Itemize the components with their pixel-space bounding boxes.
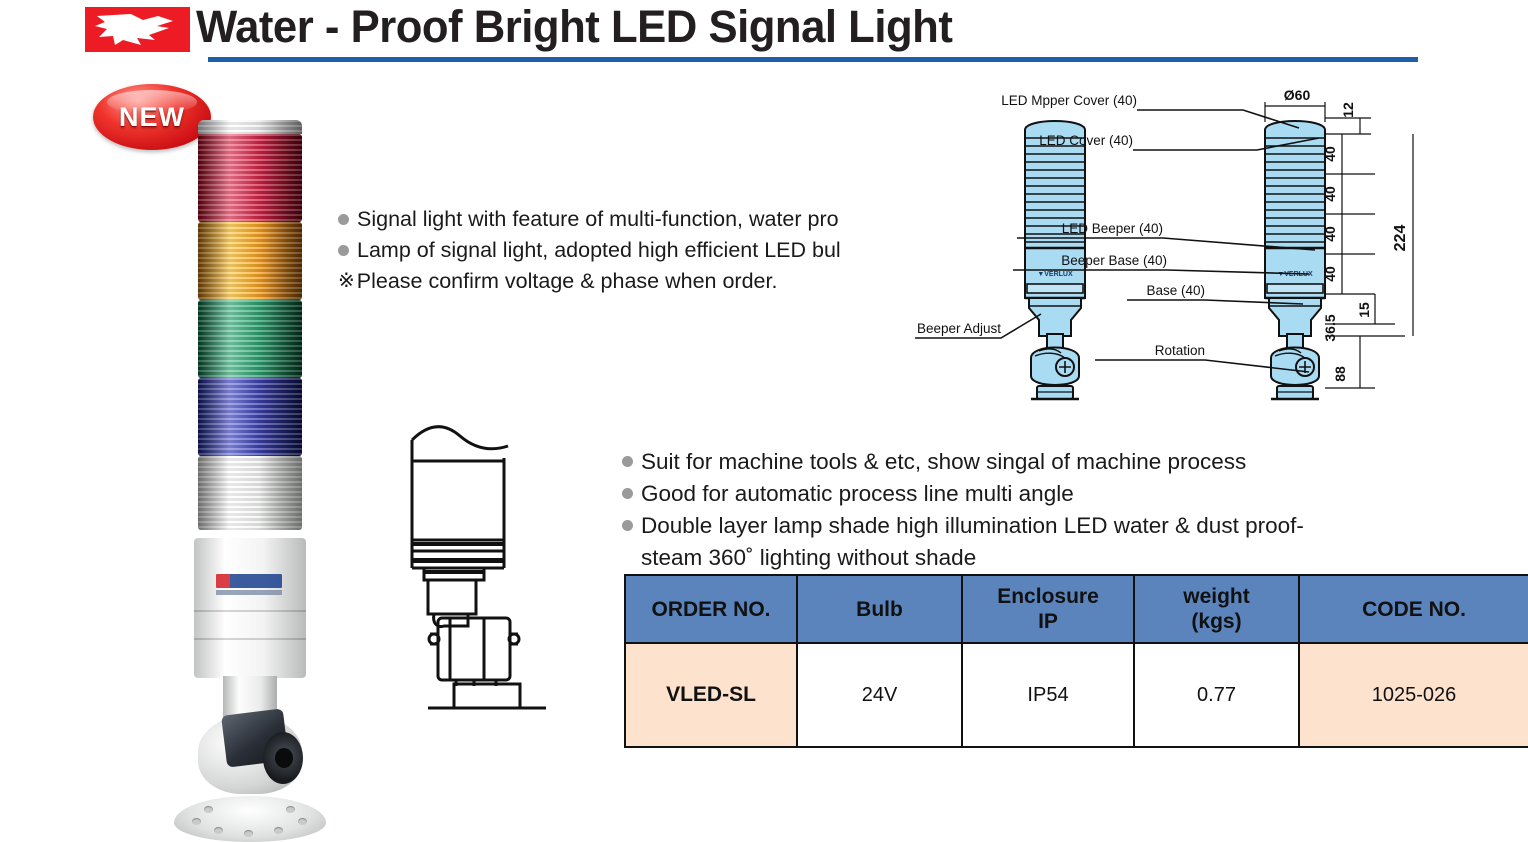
new-badge-label: NEW (119, 102, 185, 133)
feature-item-continuation: steam 360˚ lighting without shade (622, 542, 1522, 574)
stack-segment-green (198, 300, 302, 378)
cell-enclosure-ip: IP54 (962, 643, 1134, 747)
feature-item: Signal light with feature of multi-funct… (338, 204, 998, 235)
dim-beeper-base: 15 (1356, 302, 1372, 318)
feature-text: Please confirm voltage & phase when orde… (357, 266, 778, 297)
dim-diameter: Ø60 (1284, 88, 1311, 103)
dim-bracket: 88 (1332, 366, 1348, 382)
table-row: VLED-SL 24V IP54 0.77 1025-026 (625, 643, 1528, 747)
eagle-head-logo-icon (85, 7, 190, 52)
feature-text: Double layer lamp shade high illuminatio… (641, 510, 1304, 542)
feature-item: Suit for machine tools & etc, show singa… (622, 446, 1522, 478)
dim-base: 36.5 (1322, 314, 1338, 341)
swivel-knob (263, 732, 303, 784)
callout-led-cover: LED Cover (40) (1039, 133, 1133, 148)
reference-mark-icon: ※ (338, 266, 355, 297)
header-text-line1: weight (1136, 584, 1297, 609)
header-text-line2: IP (964, 609, 1132, 634)
cell-code-no: 1025-026 (1299, 643, 1528, 747)
product-brand-subtext (216, 590, 282, 595)
feature-item-note: ※ Please confirm voltage & phase when or… (338, 266, 998, 297)
feature-text: steam 360˚ lighting without shade (641, 542, 976, 574)
header-text-line2: (kgs) (1136, 609, 1297, 634)
callout-beeper-adjust: Beeper Adjust (917, 321, 1001, 336)
dim-seg-3: 40 (1322, 226, 1338, 242)
feature-text: Lamp of signal light, adopted high effic… (357, 235, 841, 266)
bullet-dot-icon (622, 520, 633, 531)
stack-segment-amber (198, 222, 302, 300)
drawing-brand-left: ▼VERLUX (1037, 271, 1073, 278)
specification-table: ORDER NO. Bulb Enclosure IP weight (kgs)… (624, 574, 1528, 748)
stack-segment-red (198, 134, 302, 222)
column-header-order-no: ORDER NO. (625, 575, 797, 643)
bullet-dot-icon (622, 456, 633, 467)
body-seam-1 (194, 610, 306, 612)
cell-bulb: 24V (797, 643, 962, 747)
callout-rotation: Rotation (1155, 343, 1205, 358)
technical-drawing: ▼VERLUX ▼VERLUX LED Mpper Cover (40) LED… (905, 88, 1528, 418)
feature-text: Good for automatic process line multi an… (641, 478, 1074, 510)
product-body (194, 538, 306, 678)
column-header-enclosure-ip: Enclosure IP (962, 575, 1134, 643)
dim-seg-2: 40 (1322, 186, 1338, 202)
cell-order-no: VLED-SL (625, 643, 797, 747)
feature-text: Signal light with feature of multi-funct… (357, 204, 839, 235)
feature-item: Double layer lamp shade high illuminatio… (622, 510, 1522, 542)
stack-segment-clear (198, 456, 302, 530)
column-header-code-no: CODE NO. (1299, 575, 1528, 643)
dim-seg-4: 40 (1322, 266, 1338, 282)
feature-text: Suit for machine tools & etc, show singa… (641, 446, 1246, 478)
feature-list-bottom: Suit for machine tools & etc, show singa… (622, 446, 1522, 574)
mounting-flange (174, 796, 326, 842)
column-header-weight: weight (kgs) (1134, 575, 1299, 643)
dim-top-cap: 12 (1340, 102, 1356, 118)
product-outline-sketch (398, 418, 598, 718)
header-text: Bulb (856, 598, 903, 621)
table-header-row: ORDER NO. Bulb Enclosure IP weight (kgs)… (625, 575, 1528, 643)
page-title: Water - Proof Bright LED Signal Light (196, 0, 952, 55)
title-underline (208, 57, 1418, 62)
stack-segment-blue (198, 378, 302, 456)
header-text: ORDER NO. (651, 598, 770, 621)
body-seam-2 (194, 638, 306, 640)
bullet-dot-icon (338, 214, 349, 225)
cell-weight: 0.77 (1134, 643, 1299, 747)
dim-overall: 224 (1392, 225, 1409, 252)
callout-led-upper-cover: LED Mpper Cover (40) (1001, 93, 1137, 108)
catalog-page: Water - Proof Bright LED Signal Light NE… (0, 0, 1528, 753)
feature-item: Lamp of signal light, adopted high effic… (338, 235, 998, 266)
callout-led-beeper: LED Beeper (40) (1062, 221, 1163, 236)
stack-top-cap (198, 120, 302, 134)
header-text: CODE NO. (1362, 598, 1466, 621)
bullet-dot-icon (338, 245, 349, 256)
light-stack (198, 120, 302, 530)
dim-seg-1: 40 (1322, 146, 1338, 162)
bullet-dot-icon (622, 488, 633, 499)
column-header-bulb: Bulb (797, 575, 962, 643)
header-text-line1: Enclosure (964, 584, 1132, 609)
page-header: Water - Proof Bright LED Signal Light (0, 0, 1528, 70)
product-photo (150, 120, 350, 753)
product-brand-label (216, 574, 282, 588)
callout-beeper-base: Beeper Base (40) (1061, 253, 1167, 268)
feature-item: Good for automatic process line multi an… (622, 478, 1522, 510)
callout-base: Base (40) (1146, 283, 1205, 298)
feature-list-top: Signal light with feature of multi-funct… (338, 204, 998, 297)
